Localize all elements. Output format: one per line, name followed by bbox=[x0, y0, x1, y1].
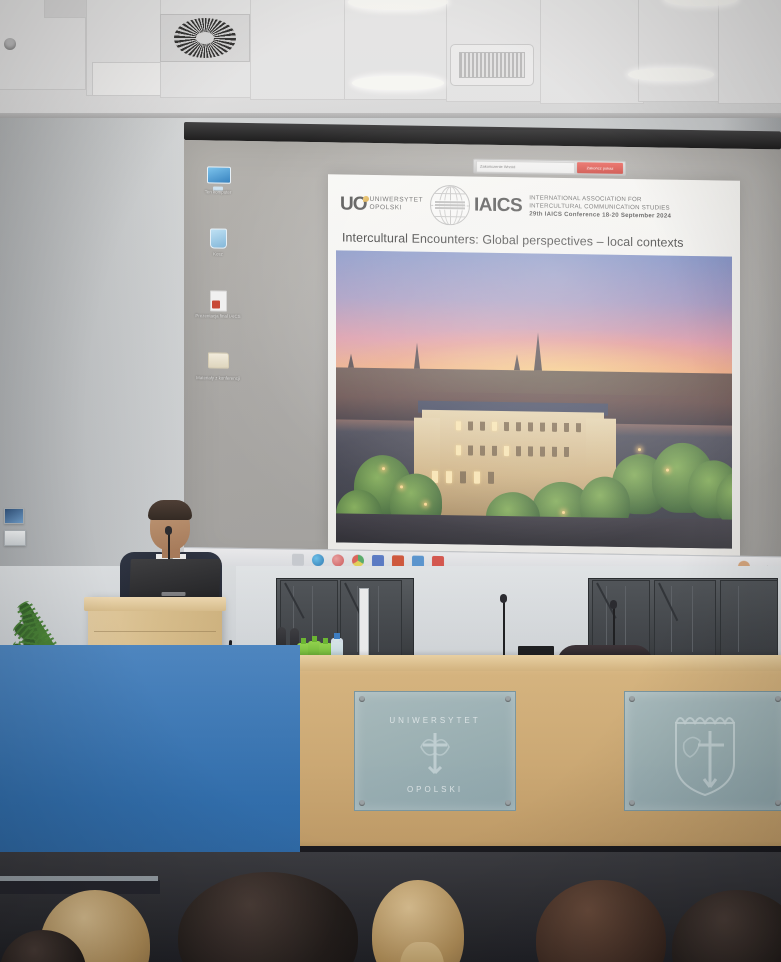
ceiling-light bbox=[628, 68, 714, 81]
slide-header: UO UNIWERSYTET OPOLSKI bbox=[328, 174, 740, 232]
conference-table: UNIWERSYTET OPOLSKI bbox=[256, 655, 781, 855]
microphone-capsule-icon bbox=[500, 594, 507, 603]
powerpoint-presenter-toolbar[interactable]: Zakończenie Wrzód Zakończ pokaz bbox=[473, 159, 626, 176]
folder-icon bbox=[208, 352, 229, 368]
door-panel-right[interactable] bbox=[340, 580, 402, 658]
uniwersytet-opolski-logo: UO UNIWERSYTET OPOLSKI bbox=[340, 194, 423, 214]
globe-icon bbox=[430, 185, 470, 226]
glass-arc-bottom: OPOLSKI bbox=[407, 785, 463, 794]
desktop-icon-this-pc[interactable]: Ten komputer bbox=[190, 166, 246, 219]
desktop-icons: Ten komputer Kosz Prezentacja final IAIC… bbox=[190, 166, 246, 415]
laptop-brand-logo bbox=[161, 592, 185, 596]
slide-photo-opole-skyline bbox=[336, 250, 732, 548]
presenter-field[interactable]: Zakończenie Wrzód bbox=[476, 160, 575, 174]
glass-arc-top: UNIWERSYTET bbox=[389, 716, 480, 725]
presenter-laptop[interactable] bbox=[129, 559, 220, 601]
end-show-button[interactable]: Zakończ pokaz bbox=[577, 162, 623, 174]
ac-vent-icon bbox=[450, 44, 534, 86]
ceiling-sensor bbox=[4, 38, 16, 50]
desktop-icon-label: Prezentacja final IAICS bbox=[190, 313, 246, 319]
glass-panel-opole-crest bbox=[624, 691, 781, 811]
desktop-icon-folder[interactable]: Materiały z konferencji bbox=[190, 352, 246, 405]
table-top-edge bbox=[256, 655, 781, 671]
door-panel-edge[interactable] bbox=[720, 580, 778, 658]
projection-screen: Ten komputer Kosz Prezentacja final IAIC… bbox=[184, 122, 781, 583]
uo-logo-text: UNIWERSYTET OPOLSKI bbox=[370, 196, 424, 212]
globe-band-text bbox=[433, 200, 467, 211]
microphone-capsule-icon bbox=[165, 526, 172, 535]
association-text: INTERNATIONAL ASSOCIATION FOR INTERCULTU… bbox=[529, 194, 671, 221]
iaics-acronym: IAICS bbox=[474, 195, 522, 218]
desktop-icon-recycle-bin[interactable]: Kosz bbox=[190, 228, 246, 281]
wall-notice bbox=[359, 588, 369, 656]
desktop-icon-label: Materiały z konferencji bbox=[190, 375, 246, 381]
front-desk-top bbox=[0, 876, 158, 881]
uo-monogram: UO bbox=[340, 194, 367, 213]
microphone-capsule-icon bbox=[610, 600, 617, 609]
wall-display-panel bbox=[4, 508, 24, 524]
suspended-ceiling bbox=[0, 0, 781, 122]
recycle-bin-icon bbox=[210, 228, 227, 248]
opole-coat-of-arms-icon bbox=[666, 705, 744, 797]
university-crest-icon bbox=[409, 725, 461, 781]
screen-surface: Ten komputer Kosz Prezentacja final IAIC… bbox=[184, 140, 781, 583]
glass-panel-uniwersytet-opolski: UNIWERSYTET OPOLSKI bbox=[354, 691, 516, 811]
desktop-icon-presentation[interactable]: Prezentacja final IAICS bbox=[190, 290, 246, 343]
search-icon[interactable] bbox=[292, 554, 304, 566]
iaics-logo: IAICS bbox=[430, 185, 522, 226]
presentation-file-icon bbox=[210, 290, 227, 311]
lecture-hall-photo: Ten komputer Kosz Prezentacja final IAIC… bbox=[0, 0, 781, 962]
hair bbox=[148, 500, 192, 520]
ceiling-light bbox=[352, 76, 444, 90]
presentation-slide: UO UNIWERSYTET OPOLSKI bbox=[328, 174, 740, 555]
edge-browser-icon[interactable] bbox=[312, 554, 324, 566]
desktop-icon-label: Kosz bbox=[190, 251, 246, 257]
door-panel-far-right[interactable] bbox=[654, 580, 716, 658]
air-diffuser-icon bbox=[160, 14, 250, 62]
desktop-icon-label: Ten komputer bbox=[190, 189, 246, 195]
mail-icon[interactable] bbox=[332, 554, 344, 566]
this-pc-icon bbox=[207, 166, 231, 183]
gooseneck-microphone[interactable] bbox=[503, 598, 505, 660]
wall-control-panel bbox=[4, 530, 26, 546]
conference-line: 29th IAICS Conference 18-20 September 20… bbox=[529, 211, 671, 221]
chrome-browser-icon[interactable] bbox=[352, 555, 364, 567]
uo-line2: OPOLSKI bbox=[370, 204, 424, 212]
